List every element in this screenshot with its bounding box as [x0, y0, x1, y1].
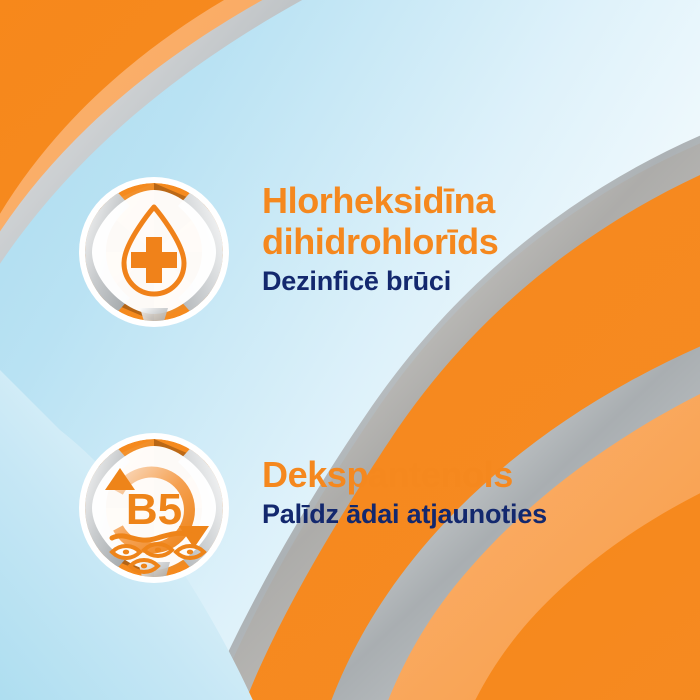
feature-subtitle: Dezinficē brūci: [262, 265, 498, 298]
b5-skin-renewal-badge-svg: B5: [78, 432, 230, 584]
feature-text-chlorhexidine: Hlorheksidīna dihidrohlorīds Dezinficē b…: [262, 176, 498, 298]
feature-title-line1: Dekspantenols: [262, 454, 547, 495]
feature-title-line1: Hlorheksidīna: [262, 180, 498, 221]
droplet-cross-badge-svg: [78, 176, 230, 328]
b5-label: B5: [126, 485, 182, 534]
feature-title-line2: dihidrohlorīds: [262, 221, 498, 262]
content-layer: Hlorheksidīna dihidrohlorīds Dezinficē b…: [0, 0, 700, 700]
poster-canvas: Hlorheksidīna dihidrohlorīds Dezinficē b…: [0, 0, 700, 700]
feature-row-dexpanthenol: B5: [78, 432, 547, 584]
b5-skin-renewal-badge-icon: B5: [78, 432, 230, 584]
feature-subtitle: Palīdz ādai atjaunoties: [262, 498, 547, 531]
feature-text-dexpanthenol: Dekspantenols Palīdz ādai atjaunoties: [262, 432, 547, 531]
droplet-cross-badge-icon: [78, 176, 230, 328]
feature-row-chlorhexidine: Hlorheksidīna dihidrohlorīds Dezinficē b…: [78, 176, 498, 328]
